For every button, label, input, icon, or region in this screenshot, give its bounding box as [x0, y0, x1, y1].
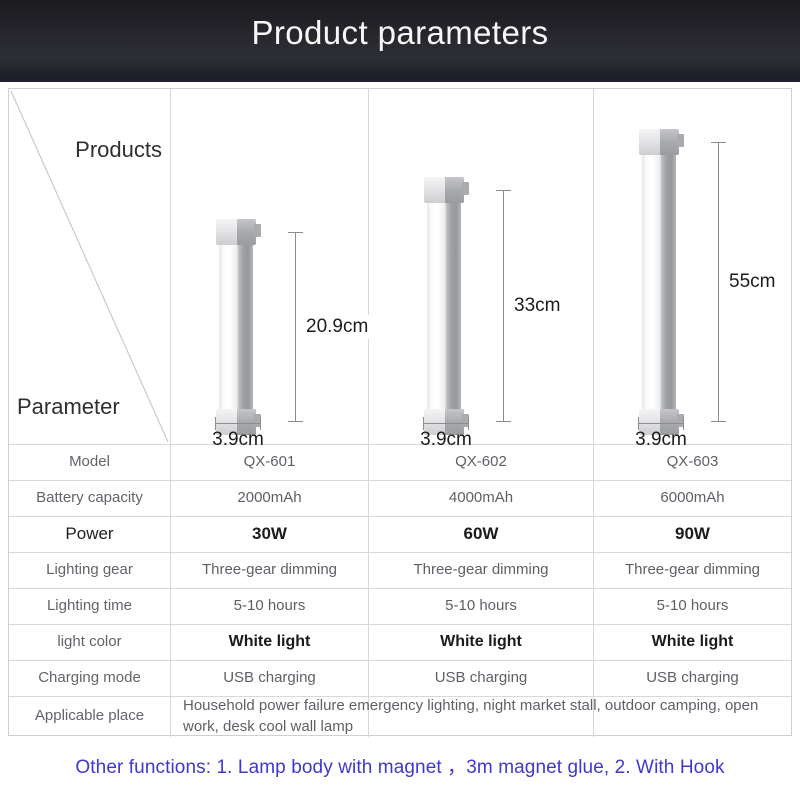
corner-parameter-label: Parameter	[17, 394, 120, 420]
lamp-hook-nub-top-1	[254, 224, 261, 237]
product-parameters-page: Product parameters Products Parameter	[0, 0, 800, 800]
spec-table: Products Parameter	[8, 88, 792, 736]
height-dimension-line-2: 33cm	[503, 190, 504, 422]
spec-label-light-color: light color	[9, 624, 170, 660]
spec-value-lighting-time-2: 5-10 hours	[369, 588, 593, 624]
led-lamp-image-1	[219, 232, 253, 422]
spec-label-battery-capacity: Battery capacity	[9, 480, 170, 516]
dimension-tick-bottom-2	[496, 421, 511, 422]
page-title: Product parameters	[0, 14, 800, 52]
spec-value-lighting-gear-2: Three-gear dimming	[369, 552, 593, 588]
width-dimension-line-2: 3.9cm	[423, 423, 469, 424]
other-functions-note: Other functions: 1. Lamp body with magne…	[0, 752, 800, 779]
lamp-tube-3	[642, 142, 676, 422]
product-stage-3: 55cm 3.9cm	[594, 89, 791, 444]
led-lamp-image-3	[642, 142, 676, 422]
product-stage-1: 20.9cm 3.9cm	[171, 89, 368, 444]
spec-value-model-2: QX-602	[369, 444, 593, 480]
spec-value-power-2: 60W	[369, 516, 593, 552]
led-lamp-image-2	[427, 190, 461, 422]
dimension-tick-bottom-1	[288, 421, 303, 422]
height-dimension-line-1: 20.9cm	[295, 232, 296, 422]
lamp-end-cap-top-3	[639, 129, 679, 155]
product-image-cell-1: 20.9cm 3.9cm	[171, 89, 368, 444]
spec-value-power-3: 90W	[594, 516, 791, 552]
lamp-end-cap-top-1	[216, 219, 256, 245]
lamp-diffuser-face-1	[219, 232, 238, 422]
height-dimension-line-3: 55cm	[718, 142, 719, 422]
height-dimension-label-1: 20.9cm	[304, 315, 370, 339]
spec-value-charging-mode-1: USB charging	[171, 660, 368, 696]
spec-label-lighting-time: Lighting time	[9, 588, 170, 624]
lamp-side-panel-3	[661, 142, 676, 422]
spec-value-model-1: QX-601	[171, 444, 368, 480]
product-image-cell-2: 33cm 3.9cm	[369, 89, 593, 444]
header-banner: Product parameters	[0, 0, 800, 82]
product-stage-2: 33cm 3.9cm	[369, 89, 593, 444]
spec-value-applicable-place: Household power failure emergency lighti…	[171, 696, 791, 737]
lamp-tube-2	[427, 190, 461, 422]
spec-value-battery-capacity-3: 6000mAh	[594, 480, 791, 516]
dimension-tick-top-3	[711, 142, 726, 143]
lamp-end-cap-top-2	[424, 177, 464, 203]
dimension-tick-bottom-3	[711, 421, 726, 422]
spec-value-charging-mode-2: USB charging	[369, 660, 593, 696]
spec-value-power-1: 30W	[171, 516, 368, 552]
spec-value-light-color-2: White light	[369, 624, 593, 660]
lamp-side-panel-2	[446, 190, 461, 422]
lamp-diffuser-face-3	[642, 142, 661, 422]
width-dimension-line-3: 3.9cm	[638, 423, 684, 424]
lamp-side-panel-1	[238, 232, 253, 422]
corner-products-label: Products	[75, 137, 162, 163]
lamp-hook-nub-top-3	[677, 134, 684, 147]
height-dimension-label-3: 55cm	[727, 270, 777, 294]
spec-value-lighting-gear-3: Three-gear dimming	[594, 552, 791, 588]
spec-label-model: Model	[9, 444, 170, 480]
spec-label-charging-mode: Charging mode	[9, 660, 170, 696]
spec-value-lighting-gear-1: Three-gear dimming	[171, 552, 368, 588]
spec-label-power: Power	[9, 516, 170, 552]
lamp-hook-nub-top-2	[462, 182, 469, 195]
spec-value-lighting-time-1: 5-10 hours	[171, 588, 368, 624]
corner-header-cell: Products Parameter	[9, 89, 170, 444]
spec-label-applicable-place: Applicable place	[9, 696, 170, 737]
spec-value-lighting-time-3: 5-10 hours	[594, 588, 791, 624]
spec-value-battery-capacity-2: 4000mAh	[369, 480, 593, 516]
spec-label-lighting-gear: Lighting gear	[9, 552, 170, 588]
spec-value-battery-capacity-1: 2000mAh	[171, 480, 368, 516]
height-dimension-label-2: 33cm	[512, 294, 562, 318]
spec-value-charging-mode-3: USB charging	[594, 660, 791, 696]
spec-value-light-color-1: White light	[171, 624, 368, 660]
dimension-tick-top-2	[496, 190, 511, 191]
product-image-cell-3: 55cm 3.9cm	[594, 89, 791, 444]
spec-value-model-3: QX-603	[594, 444, 791, 480]
dimension-tick-top-1	[288, 232, 303, 233]
spec-value-light-color-3: White light	[594, 624, 791, 660]
width-dimension-line-1: 3.9cm	[215, 423, 261, 424]
lamp-tube-1	[219, 232, 253, 422]
lamp-diffuser-face-2	[427, 190, 446, 422]
